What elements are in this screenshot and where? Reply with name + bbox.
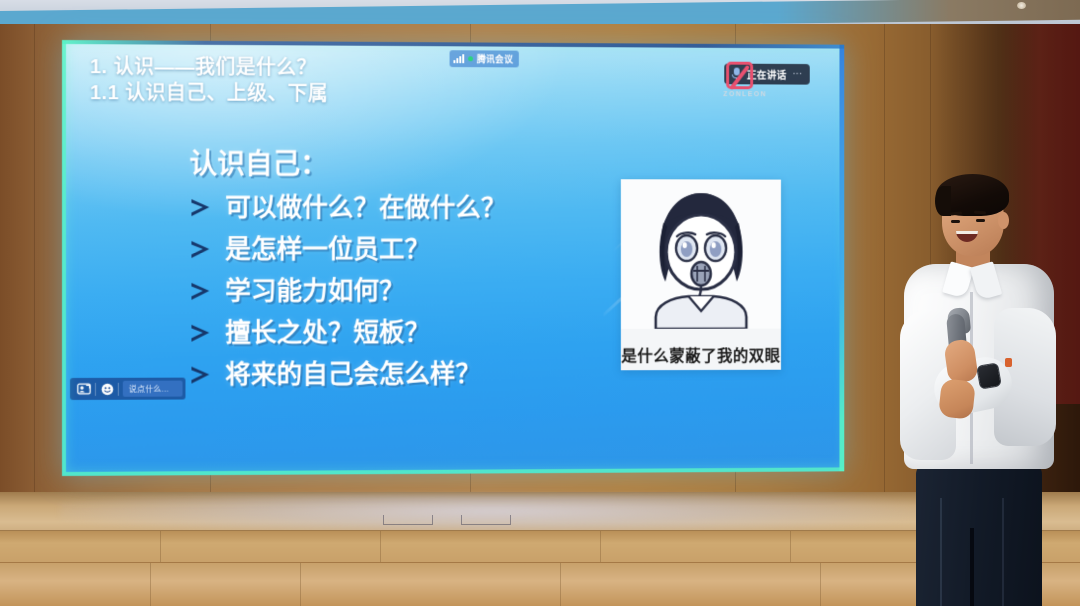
presenter-eye xyxy=(976,219,985,222)
list-item-label: 学习能力如何？ xyxy=(225,273,404,309)
arrow-bullet-icon xyxy=(189,238,212,261)
list-item-label: 是怎样一位员工？ xyxy=(225,231,430,267)
wristwatch xyxy=(976,362,1002,389)
list-item-label: 将来的自己会怎么样？ xyxy=(225,356,481,393)
presenter-trousers xyxy=(916,464,1042,606)
list-item-label: 擅长之处？短板？ xyxy=(225,314,430,350)
arrow-bullet-icon xyxy=(189,196,212,219)
signal-bars-icon xyxy=(453,54,464,63)
trouser-leg-split xyxy=(970,528,974,606)
arrow-bullet-icon xyxy=(189,279,212,302)
presenter xyxy=(890,168,1080,606)
slide-header-line2: 1.1 认识自己、上级、下属 xyxy=(90,80,640,108)
zonleon-logo-icon xyxy=(726,62,753,90)
slide-lead-text: 认识自己： xyxy=(189,145,649,184)
list-item: 是怎样一位员工？ xyxy=(189,231,649,267)
slide-header-line1: 1. 认识——我们是什么？ xyxy=(90,55,640,83)
brand-logo: ZONLEON xyxy=(723,62,756,98)
presenter-eye xyxy=(951,220,960,223)
brand-name: ZONLEON xyxy=(723,91,756,98)
slide-header: 1. 认识——我们是什么？ 1.1 认识自己、上级、下属 xyxy=(90,55,640,108)
trouser-crease xyxy=(940,498,942,606)
stage-floor-marks xyxy=(383,515,528,527)
screen-edge-right xyxy=(839,45,844,472)
chat-input-placeholder: 说点什么... xyxy=(129,383,169,394)
list-item: 学习能力如何？ xyxy=(189,273,649,309)
arrow-bullet-icon xyxy=(189,363,212,386)
slide-body: 认识自己： 可以做什么？在做什么？ 是怎样一位员工？ 学习能力如何？ 擅长之处？… xyxy=(189,145,649,398)
presenter-hand-lower xyxy=(938,378,976,419)
lapel-badge xyxy=(1005,358,1012,367)
tencent-meeting-label: 腾讯会议 xyxy=(477,52,513,65)
list-item: 可以做什么？在做什么？ xyxy=(189,189,649,225)
meeting-chat-bar[interactable]: 说点什么... xyxy=(70,378,185,400)
slide-image: 是什么蒙蔽了我的双眼 xyxy=(621,179,781,370)
trouser-crease xyxy=(1002,498,1004,606)
status-dot-icon xyxy=(468,56,473,61)
chat-input[interactable]: 说点什么... xyxy=(123,381,183,397)
ceiling-light xyxy=(1017,2,1026,9)
divider xyxy=(118,382,119,395)
emoji-icon[interactable] xyxy=(96,380,118,398)
tencent-meeting-pill[interactable]: 腾讯会议 xyxy=(450,50,520,67)
speaking-trailing: ··· xyxy=(793,69,803,80)
presenter-hair-side xyxy=(935,186,951,216)
cartoon-girl-icon xyxy=(621,179,781,329)
list-item: 将来的自己会怎么样？ xyxy=(189,355,649,392)
projection-screen[interactable]: 1. 认识——我们是什么？ 1.1 认识自己、上级、下属 认识自己： 可以做什么… xyxy=(62,40,844,476)
presenter-ear xyxy=(998,212,1009,229)
screen-share-icon[interactable] xyxy=(73,380,95,398)
arrow-bullet-icon xyxy=(189,321,212,344)
list-item-label: 可以做什么？在做什么？ xyxy=(225,189,506,225)
slide-image-caption: 是什么蒙蔽了我的双眼 xyxy=(621,342,781,366)
list-item: 擅长之处？短板？ xyxy=(189,314,649,351)
